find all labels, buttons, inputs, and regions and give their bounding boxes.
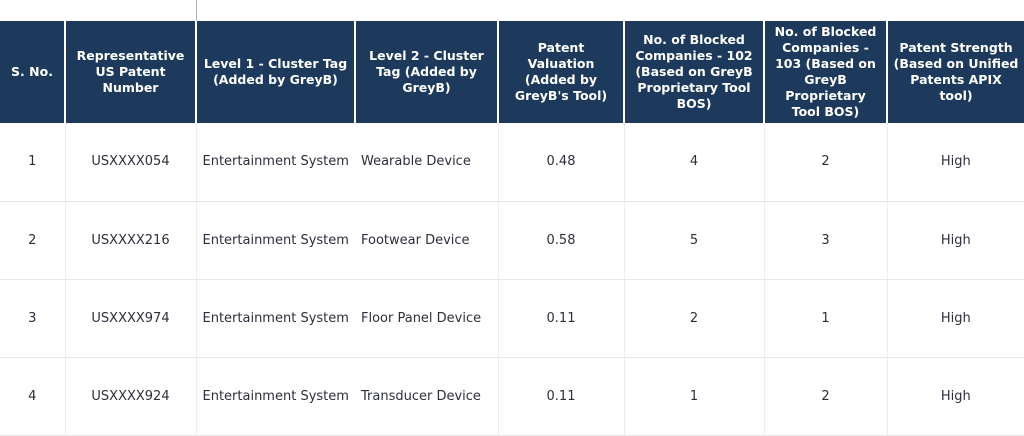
cell-lvl1: Entertainment System — [196, 279, 355, 357]
cell-patent-strength: High — [887, 357, 1024, 435]
cell-patent-strength: High — [887, 201, 1024, 279]
spacer-cell-lvl1 — [196, 0, 355, 21]
cell-sno: 4 — [0, 357, 65, 435]
cell-patent-strength: High — [887, 123, 1024, 201]
cell-patent: USXXXX924 — [65, 357, 196, 435]
table-row: 2 USXXXX216 Entertainment System Footwea… — [0, 201, 1024, 279]
cell-blocked-103: 2 — [764, 357, 887, 435]
table-row: 3 USXXXX974 Entertainment System Floor P… — [0, 279, 1024, 357]
cell-patent: USXXXX054 — [65, 123, 196, 201]
cell-patent: USXXXX216 — [65, 201, 196, 279]
cell-valuation: 0.48 — [498, 123, 624, 201]
patent-analysis-table: Tool Based Analysis S. No. Representativ… — [0, 0, 1024, 436]
cell-lvl1: Entertainment System — [196, 201, 355, 279]
column-header-lvl1[interactable]: Level 1 - Cluster Tag (Added by GreyB) — [196, 21, 355, 123]
group-header-tool-based-analysis: Tool Based Analysis — [498, 0, 1024, 21]
table-row: 4 USXXXX924 Entertainment System Transdu… — [0, 357, 1024, 435]
cell-lvl2: Floor Panel Device — [355, 279, 498, 357]
cell-blocked-103: 2 — [764, 123, 887, 201]
cell-blocked-102: 2 — [624, 279, 764, 357]
table-header-row: S. No. Representative US Patent Number L… — [0, 21, 1024, 123]
column-header-valuation[interactable]: Patent Valuation (Added by GreyB's Tool) — [498, 21, 624, 123]
column-header-sno[interactable]: S. No. — [0, 21, 65, 123]
cell-sno: 2 — [0, 201, 65, 279]
spacer-cell-patent — [65, 0, 196, 21]
column-header-patent[interactable]: Representative US Patent Number — [65, 21, 196, 123]
spacer-cell-lvl2 — [355, 0, 498, 21]
table-row: 1 USXXXX054 Entertainment System Wearabl… — [0, 123, 1024, 201]
cell-sno: 1 — [0, 123, 65, 201]
cell-lvl2: Footwear Device — [355, 201, 498, 279]
column-header-patent-strength[interactable]: Patent Strength (Based on Unified Patent… — [887, 21, 1024, 123]
spacer-cell-sno — [0, 0, 65, 21]
cell-valuation: 0.11 — [498, 357, 624, 435]
column-header-lvl2[interactable]: Level 2 - Cluster Tag (Added by GreyB) — [355, 21, 498, 123]
cell-blocked-102: 5 — [624, 201, 764, 279]
cell-blocked-102: 4 — [624, 123, 764, 201]
cell-sno: 3 — [0, 279, 65, 357]
column-header-blocked-102[interactable]: No. of Blocked Companies - 102 (Based on… — [624, 21, 764, 123]
cell-patent: USXXXX974 — [65, 279, 196, 357]
cell-valuation: 0.58 — [498, 201, 624, 279]
cell-blocked-103: 3 — [764, 201, 887, 279]
cell-lvl2: Transducer Device — [355, 357, 498, 435]
cell-patent-strength: High — [887, 279, 1024, 357]
group-header-row: Tool Based Analysis — [0, 0, 1024, 21]
column-header-blocked-103[interactable]: No. of Blocked Companies - 103 (Based on… — [764, 21, 887, 123]
cell-lvl1: Entertainment System — [196, 357, 355, 435]
cell-valuation: 0.11 — [498, 279, 624, 357]
cell-lvl1: Entertainment System — [196, 123, 355, 201]
cell-lvl2: Wearable Device — [355, 123, 498, 201]
cell-blocked-103: 1 — [764, 279, 887, 357]
cell-blocked-102: 1 — [624, 357, 764, 435]
